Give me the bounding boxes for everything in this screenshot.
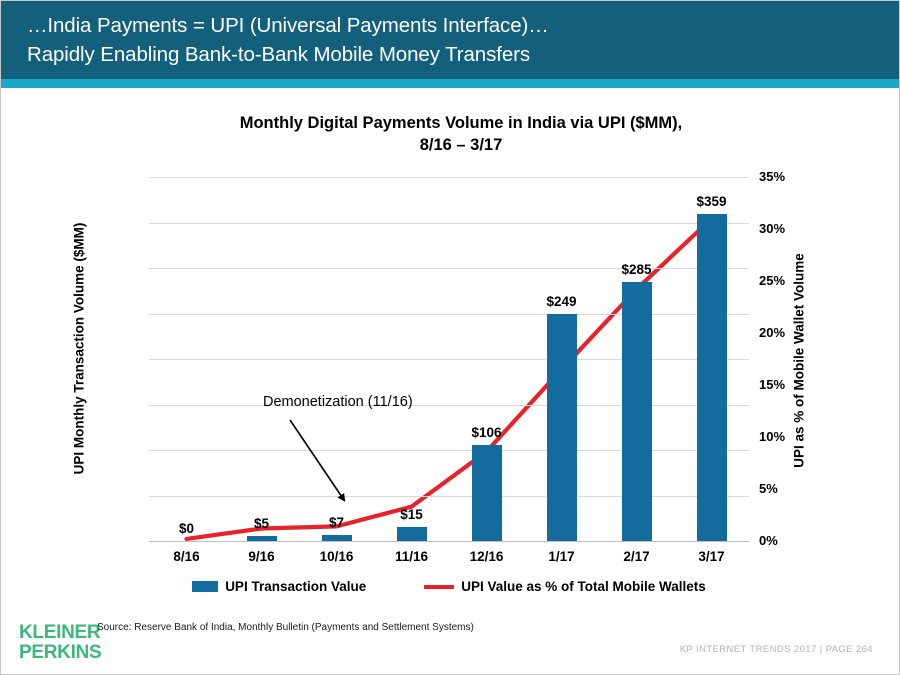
chart-legend: UPI Transaction Value UPI Value as % of … bbox=[149, 579, 749, 594]
source-note: Source: Reserve Bank of India, Monthly B… bbox=[97, 622, 474, 633]
y-axis-right-tick: 25% bbox=[759, 273, 819, 288]
bar-data-label: $285 bbox=[597, 262, 677, 277]
header-title-line2: Rapidly Enabling Bank-to-Bank Mobile Mon… bbox=[27, 40, 900, 69]
bar[interactable] bbox=[472, 445, 502, 541]
chart-title: Monthly Digital Payments Volume in India… bbox=[151, 112, 771, 156]
bar[interactable] bbox=[397, 527, 427, 541]
bar-data-label: $249 bbox=[522, 294, 602, 309]
legend-line-swatch-icon bbox=[424, 585, 454, 589]
y-axis-right-tick: 5% bbox=[759, 481, 819, 496]
y-axis-right-tick: 30% bbox=[759, 221, 819, 236]
y-axis-right-tick: 10% bbox=[759, 429, 819, 444]
y-axis-left-title: UPI Monthly Transaction Volume ($MM) bbox=[72, 179, 87, 519]
footer-page-info: KP INTERNET TRENDS 2017 | PAGE 264 bbox=[680, 644, 873, 655]
y-axis-right-tick: 20% bbox=[759, 325, 819, 340]
header-accent-strip bbox=[1, 79, 900, 88]
chart-title-line1: Monthly Digital Payments Volume in India… bbox=[151, 112, 771, 134]
bar-data-label: $359 bbox=[672, 194, 752, 209]
kleiner-perkins-logo: KLEINER PERKINS bbox=[19, 623, 101, 663]
header-title-line1: …India Payments = UPI (Universal Payment… bbox=[27, 11, 900, 40]
x-axis-tick: 8/16 bbox=[147, 549, 227, 564]
bar[interactable] bbox=[547, 314, 577, 541]
gridline bbox=[149, 314, 749, 315]
x-axis-tick: 3/17 bbox=[672, 549, 752, 564]
legend-bar-label: UPI Transaction Value bbox=[225, 579, 366, 594]
bar-data-label: $0 bbox=[147, 521, 227, 536]
y-axis-right-tick: 15% bbox=[759, 377, 819, 392]
legend-line-label: UPI Value as % of Total Mobile Wallets bbox=[461, 579, 706, 594]
x-axis-tick: 11/16 bbox=[372, 549, 452, 564]
logo-line1: KLEINER bbox=[19, 623, 101, 643]
chart-title-line2: 8/16 – 3/17 bbox=[151, 134, 771, 156]
x-axis-tick: 1/17 bbox=[522, 549, 602, 564]
axis-baseline bbox=[149, 541, 749, 542]
slide: …India Payments = UPI (Universal Payment… bbox=[0, 0, 900, 675]
legend-item-bar[interactable]: UPI Transaction Value bbox=[192, 579, 366, 594]
legend-item-line[interactable]: UPI Value as % of Total Mobile Wallets bbox=[424, 579, 706, 594]
x-axis-tick: 2/17 bbox=[597, 549, 677, 564]
bar[interactable] bbox=[247, 536, 277, 541]
y-axis-right-tick: 0% bbox=[759, 533, 819, 548]
bar[interactable] bbox=[622, 282, 652, 541]
gridline bbox=[149, 359, 749, 360]
slide-header: …India Payments = UPI (Universal Payment… bbox=[1, 1, 900, 79]
bar[interactable] bbox=[697, 214, 727, 541]
x-axis-tick: 10/16 bbox=[297, 549, 377, 564]
bar-data-label: $106 bbox=[447, 425, 527, 440]
legend-bar-swatch-icon bbox=[192, 581, 218, 592]
logo-line2: PERKINS bbox=[19, 643, 101, 663]
bar[interactable] bbox=[322, 535, 352, 541]
annotation-arrow-icon bbox=[256, 396, 456, 526]
y-axis-right-tick: 35% bbox=[759, 169, 819, 184]
gridline bbox=[149, 223, 749, 224]
gridline bbox=[149, 177, 749, 178]
y-axis-right-title: UPI as % of Mobile Wallet Volume bbox=[792, 191, 807, 531]
x-axis-tick: 12/16 bbox=[447, 549, 527, 564]
x-axis-tick: 9/16 bbox=[222, 549, 302, 564]
